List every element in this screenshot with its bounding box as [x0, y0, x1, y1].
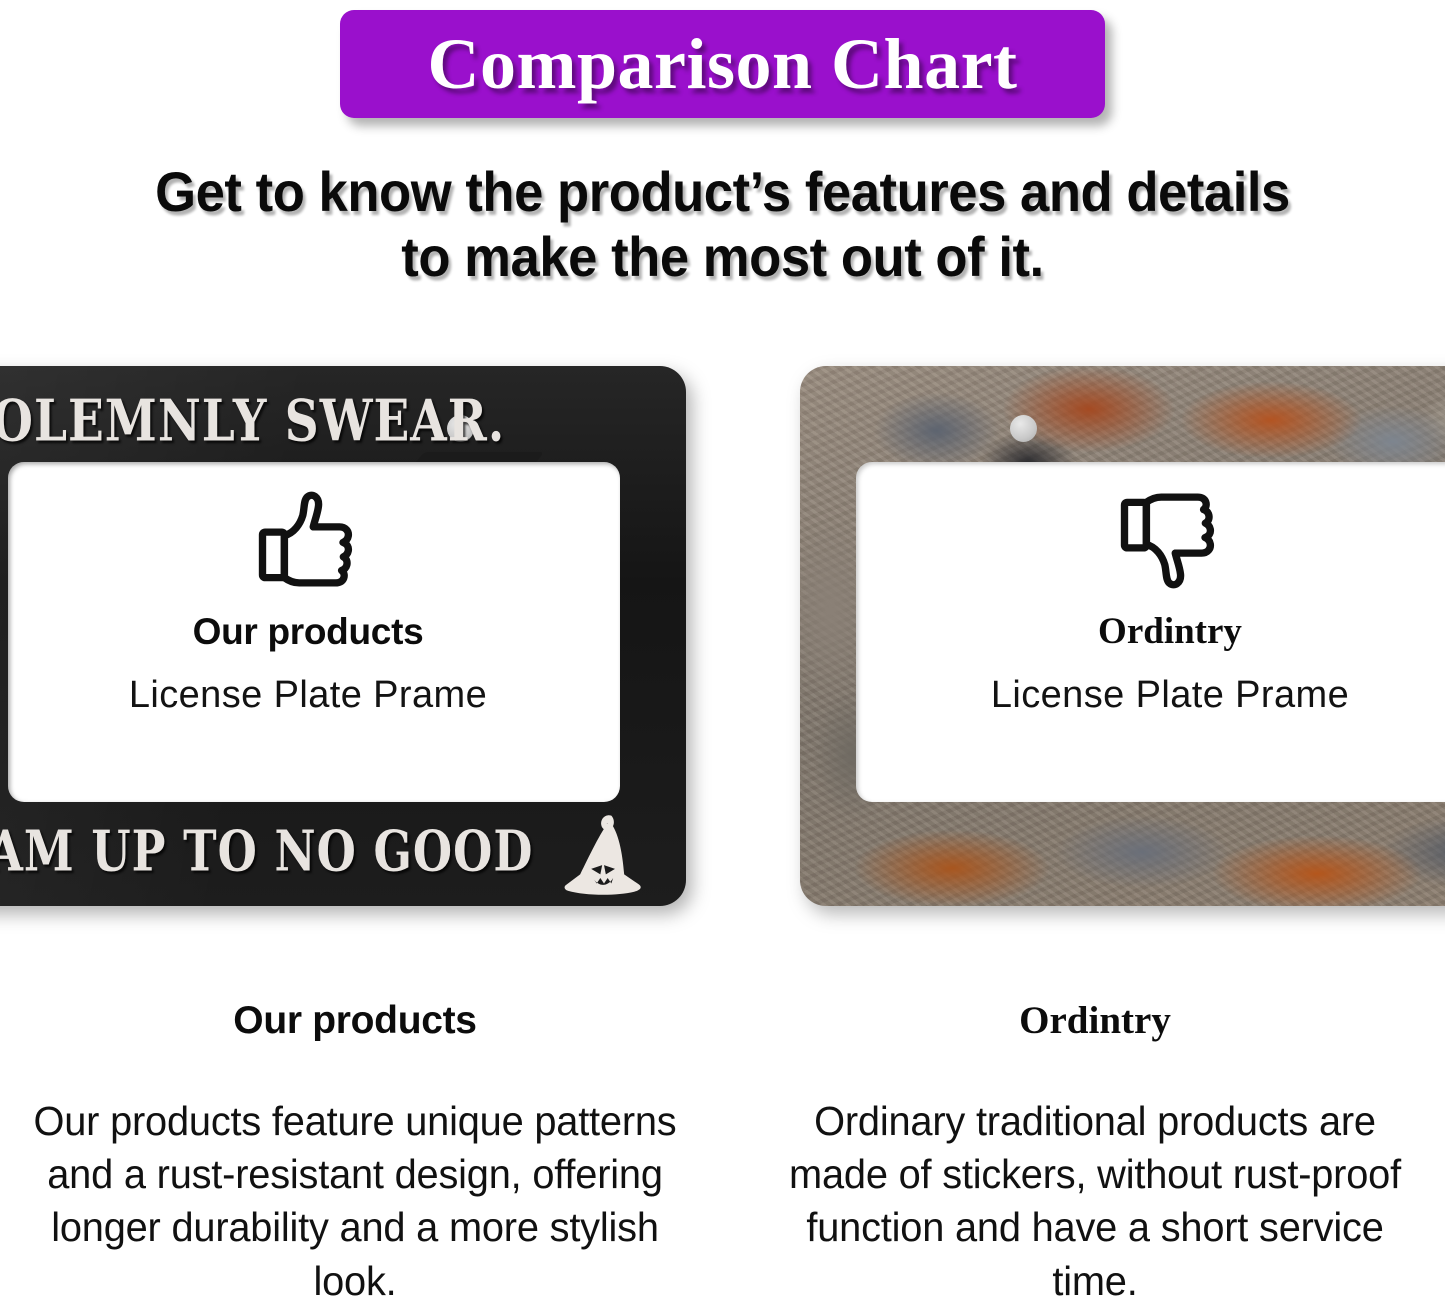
card-title-our-product: Our products	[48, 612, 568, 653]
card-content-ordinary-product: Ordintry License Plate Prame	[900, 484, 1440, 716]
plate-slogan-top: OLEMNLY SWEAR.	[0, 388, 505, 455]
title-banner: Comparison Chart	[340, 10, 1105, 118]
card-subtitle-our-product: License Plate Prame	[48, 675, 568, 717]
mounting-hole-right	[1010, 415, 1037, 442]
description-column-our-product: Our products Our products feature unique…	[10, 1000, 700, 1308]
thumbs-up-icon	[252, 484, 364, 596]
page-title: Comparison Chart	[427, 28, 1017, 100]
description-body-ordinary-product: Ordinary traditional products are made o…	[760, 1095, 1429, 1308]
thumbs-down-icon	[1114, 484, 1226, 596]
page-subtitle: Get to know the product’s features and d…	[128, 160, 1317, 290]
description-heading-our-product: Our products	[10, 1000, 700, 1043]
plate-slogan-bottom: AM UP TO NO GOOD	[0, 818, 533, 884]
description-body-our-product: Our products feature unique patterns and…	[20, 1095, 689, 1308]
comparison-chart-infographic: Comparison Chart Get to know the product…	[0, 0, 1445, 1314]
card-subtitle-ordinary-product: License Plate Prame	[900, 675, 1440, 717]
description-column-ordinary-product: Ordintry Ordinary traditional products a…	[750, 1000, 1440, 1308]
witch-hat-ghost-icon	[558, 812, 650, 900]
card-content-our-product: Our products License Plate Prame	[48, 484, 568, 716]
card-title-ordinary-product: Ordintry	[900, 612, 1440, 653]
description-heading-ordinary-product: Ordintry	[750, 1000, 1440, 1043]
